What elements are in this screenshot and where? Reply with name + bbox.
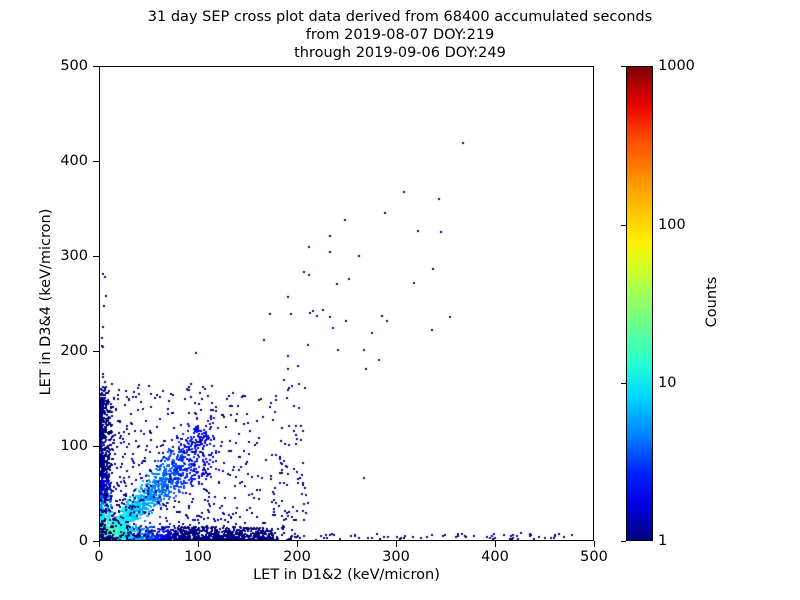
colorbar-tick-1000	[621, 66, 626, 67]
y-ticklabel-200: 200	[28, 343, 88, 359]
colorbar-label-10: 10	[658, 375, 676, 391]
y-ticklabel-100: 100	[28, 438, 88, 454]
x-ticklabel-200: 200	[267, 549, 327, 565]
colorbar	[626, 66, 653, 541]
y-tick-200	[93, 351, 99, 352]
colorbar-tick-100	[621, 225, 626, 226]
x-tick-300	[396, 541, 397, 547]
x-tick-400	[495, 541, 496, 547]
colorbar-label-100: 100	[658, 217, 686, 233]
y-tick-500	[93, 66, 99, 67]
y-axis-label: LET in D3&4 (keV/micron)	[38, 142, 54, 462]
title-line-1: 31 day SEP cross plot data derived from …	[0, 8, 800, 26]
x-tick-0	[99, 541, 100, 547]
x-ticklabel-500: 500	[564, 549, 624, 565]
plot-area	[99, 66, 594, 541]
x-ticklabel-0: 0	[69, 549, 129, 565]
x-tick-500	[594, 541, 595, 547]
y-tick-100	[93, 446, 99, 447]
colorbar-title: Counts	[704, 212, 720, 392]
colorbar-tick-1	[621, 541, 626, 542]
title-line-2: from 2019-08-07 DOY:219	[0, 26, 800, 44]
figure-title: 31 day SEP cross plot data derived from …	[0, 8, 800, 62]
colorbar-label-1000: 1000	[658, 58, 695, 74]
x-tick-200	[297, 541, 298, 547]
y-ticklabel-400: 400	[28, 153, 88, 169]
y-ticklabel-500: 500	[28, 58, 88, 74]
x-ticklabel-400: 400	[465, 549, 525, 565]
x-ticklabel-300: 300	[366, 549, 426, 565]
x-axis-label: LET in D1&2 (keV/micron)	[99, 567, 594, 583]
x-ticklabel-100: 100	[168, 549, 228, 565]
y-ticklabel-0: 0	[28, 533, 88, 549]
figure-canvas: 31 day SEP cross plot data derived from …	[0, 0, 800, 600]
colorbar-label-1: 1	[658, 533, 667, 549]
y-tick-400	[93, 161, 99, 162]
y-ticklabel-300: 300	[28, 248, 88, 264]
colorbar-tick-10	[621, 383, 626, 384]
y-tick-300	[93, 256, 99, 257]
x-tick-100	[198, 541, 199, 547]
scatter-plot-canvas	[100, 67, 593, 540]
